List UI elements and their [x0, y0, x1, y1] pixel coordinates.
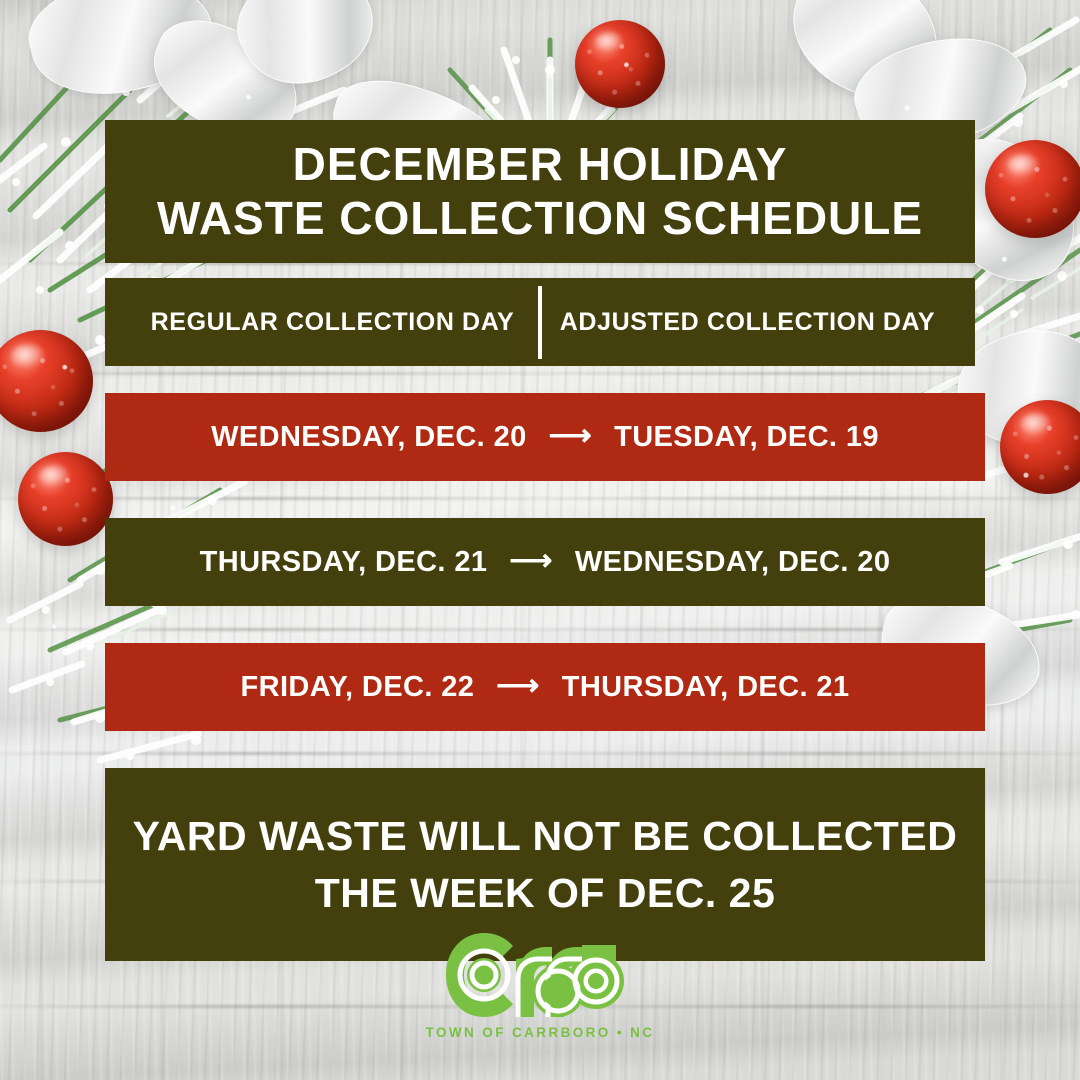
schedule-row: THURSDAY, DEC. 21 ⟶ WEDNESDAY, DEC. 20: [105, 518, 985, 606]
schedule-adjusted-day: TUESDAY, DEC. 19: [614, 421, 879, 454]
title-line-2: WASTE COLLECTION SCHEDULE: [157, 193, 923, 245]
schedule-adjusted-day: WEDNESDAY, DEC. 20: [575, 546, 891, 579]
schedule-regular-day: FRIDAY, DEC. 22: [241, 671, 475, 704]
schedule-adjusted-day: THURSDAY, DEC. 21: [562, 671, 850, 704]
schedule-row: WEDNESDAY, DEC. 20 ⟶ TUESDAY, DEC. 19: [105, 393, 985, 481]
red-ornament-berry: [18, 452, 113, 546]
schedule-regular-day: THURSDAY, DEC. 21: [200, 546, 488, 579]
schedule-row-text: FRIDAY, DEC. 22 ⟶ THURSDAY, DEC. 21: [241, 671, 850, 704]
red-ornament-berry: [985, 140, 1080, 238]
holiday-waste-collection-poster: DECEMBER HOLIDAY WASTE COLLECTION SCHEDU…: [0, 0, 1080, 1080]
red-ornament-berry: [575, 20, 665, 108]
title-banner: DECEMBER HOLIDAY WASTE COLLECTION SCHEDU…: [105, 120, 975, 263]
column-header-regular: REGULAR COLLECTION DAY: [127, 308, 538, 337]
carrboro-logo: TOWN OF CARRBORO • NC: [410, 925, 670, 1040]
schedule-regular-day: WEDNESDAY, DEC. 20: [211, 421, 527, 454]
column-headers-banner: REGULAR COLLECTION DAY ADJUSTED COLLECTI…: [105, 278, 975, 366]
logo-caption: TOWN OF CARRBORO • NC: [410, 1025, 670, 1040]
schedule-row-text: THURSDAY, DEC. 21 ⟶ WEDNESDAY, DEC. 20: [200, 546, 891, 579]
notice-line-2: THE WEEK OF DEC. 25: [315, 869, 776, 917]
right-arrow-icon: ⟶: [496, 671, 539, 701]
notice-line-1: YARD WASTE WILL NOT BE COLLECTED: [133, 812, 958, 860]
title-line-1: DECEMBER HOLIDAY: [293, 139, 788, 191]
right-arrow-icon: ⟶: [549, 421, 592, 451]
schedule-row: FRIDAY, DEC. 22 ⟶ THURSDAY, DEC. 21: [105, 643, 985, 731]
column-header-adjusted: ADJUSTED COLLECTION DAY: [542, 308, 953, 337]
right-arrow-icon: ⟶: [509, 546, 552, 576]
schedule-row-text: WEDNESDAY, DEC. 20 ⟶ TUESDAY, DEC. 19: [211, 421, 879, 454]
carrboro-wordmark-icon: [440, 925, 640, 1021]
